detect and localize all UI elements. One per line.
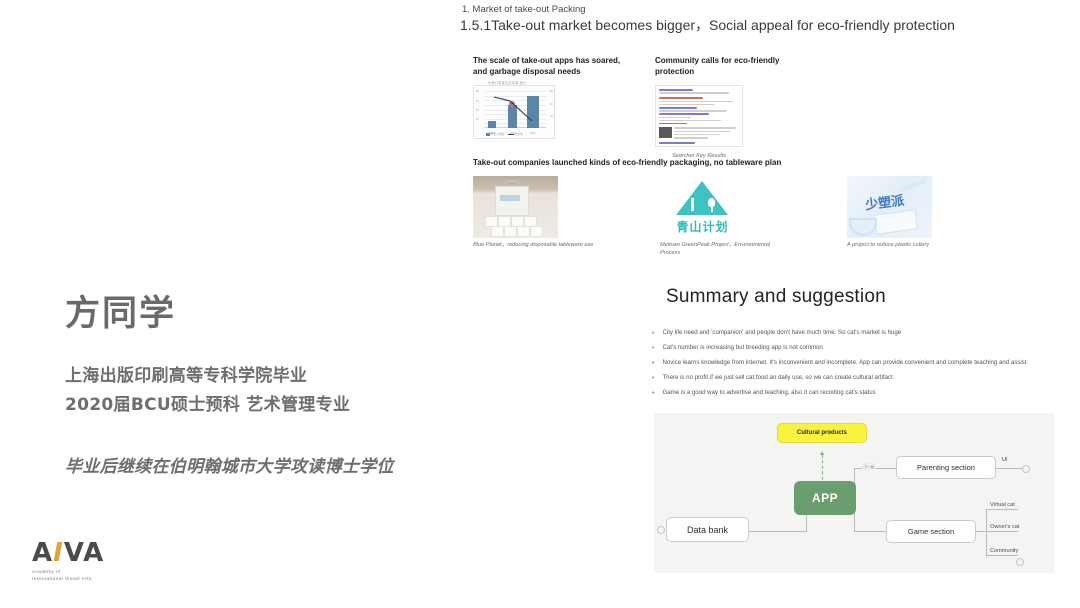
qingshan-logo: 青山计划 — [660, 176, 745, 238]
block-community-calls: Community calls for eco-friendly protect… — [655, 55, 815, 160]
mm-branch-tag: 下一级 — [862, 463, 876, 470]
list-item: •Novice learns knowledge from internet. … — [652, 358, 1052, 369]
mm-leaf-ui[interactable]: UI — [1002, 457, 1008, 463]
bullet-dot-icon: • — [652, 328, 654, 339]
mm-line-databank — [749, 531, 807, 532]
photo-caption-blue-planet: Blue Planet，reducing disposable tablewar… — [473, 241, 598, 249]
block-packaging: Take-out companies launched kinds of eco… — [473, 157, 853, 257]
mm-node-parenting-section[interactable]: Parenting section — [896, 456, 996, 479]
bio-block: 上海出版印刷高等专科学院毕业 2020届BCU硕士预科 艺术管理专业 — [65, 362, 465, 420]
mm-line-game-leaf1 — [986, 509, 1018, 510]
mm-line-game-fan — [986, 509, 987, 557]
mm-collapse-ring-community[interactable] — [1016, 558, 1024, 566]
photo-item-less-plastic: 少塑派 A project to reduce plastic cutlery — [847, 170, 972, 257]
mm-leaf-owners-cat[interactable]: Owner's cat — [990, 524, 1019, 530]
mm-collapse-ring-ui[interactable] — [1022, 465, 1030, 473]
slide-market-takeout: 1. Market of take-out Packing 1.5.1Take-… — [440, 0, 1080, 290]
list-item: •City life need and 'companion' and peop… — [652, 328, 1052, 339]
logo-letter-a: A — [32, 538, 53, 568]
bio-line-phd: 毕业后继续在伯明翰城市大学攻读博士学位 — [65, 452, 485, 477]
summary-title: Summary and suggestion — [666, 286, 886, 308]
list-item: •There is no profit if we just sell cat … — [652, 373, 1052, 384]
logo-wordmark: AIVA — [32, 540, 182, 566]
app-mindmap: Cultural products APP Data bank Parentin… — [654, 413, 1054, 573]
summary-bullet-list: •City life need and 'companion' and peop… — [652, 328, 1052, 403]
list-item: •Cat's number is increasing but breeding… — [652, 343, 1052, 354]
slide-summary-suggestion: Summary and suggestion •City life need a… — [632, 290, 1080, 608]
less-plastic-photo: 少塑派 — [847, 176, 932, 238]
speaker-intro-panel: 方同学 上海出版印刷高等专科学院毕业 2020届BCU硕士预科 艺术管理专业 毕… — [0, 0, 470, 608]
list-item: •Game is a good way to advertise and tea… — [652, 388, 1052, 399]
mm-node-cultural-products[interactable]: Cultural products — [777, 423, 867, 443]
bar-chart: 外卖订单量及垃圾量 统计 90 70 50 3 — [473, 85, 555, 139]
qingshan-cn-text: 青山计划 — [660, 218, 745, 235]
blue-planet-photo — [473, 176, 558, 238]
slide-heading: 1.5.1Take-out market becomes bigger，Soci… — [460, 16, 1060, 34]
logo-subtitle-line2: International Visual Arts — [32, 576, 182, 583]
mm-collapse-ring-databank[interactable] — [657, 526, 665, 534]
serp-thumbnail — [659, 127, 672, 138]
aiva-logo: AIVA Academy of International Visual Art… — [32, 540, 182, 582]
bullet-dot-icon: • — [652, 388, 654, 399]
block-packaging-title: Take-out companies launched kinds of eco… — [473, 157, 793, 168]
bullet-dot-icon: • — [652, 358, 654, 369]
photo-item-blue-planet: Blue Planet，reducing disposable tablewar… — [473, 170, 598, 257]
less-plastic-cn-text: 少塑派 — [864, 190, 905, 214]
mm-line-game-leaf3 — [986, 555, 1018, 556]
trend-line — [484, 91, 546, 128]
bullet-dot-icon: • — [652, 373, 654, 384]
mm-arrow-up-icon — [820, 451, 824, 455]
block-community-title: Community calls for eco-friendly protect… — [655, 55, 815, 77]
logo-slash-icon: I — [53, 538, 64, 568]
block-takeout-scale-title: The scale of take-out apps has soared, a… — [473, 55, 633, 77]
mm-leaf-virtual-cat[interactable]: Virtual cat — [990, 502, 1015, 508]
bullet-dot-icon: • — [652, 343, 654, 354]
chart-superscript: 外卖订单量及垃圾量 统计 — [488, 80, 526, 85]
mm-leaf-community[interactable]: Community — [990, 548, 1018, 554]
page-title: 方同学 — [65, 285, 176, 336]
search-results-screenshot — [655, 85, 743, 147]
photo-item-qingshan: 青山计划 Meituan GreenPeak Project，Environme… — [660, 170, 785, 257]
photo-caption-less-plastic: A project to reduce plastic cutlery — [847, 241, 972, 249]
mm-line-parenting-ui — [996, 468, 1024, 469]
mm-node-app[interactable]: APP — [794, 481, 856, 515]
section-label: 1. Market of take-out Packing — [462, 4, 586, 15]
slide-canvas: 方同学 上海出版印刷高等专科学院毕业 2020届BCU硕士预科 艺术管理专业 毕… — [0, 0, 1080, 608]
logo-letters-va: VA — [64, 538, 104, 568]
block-takeout-scale: The scale of take-out apps has soared, a… — [473, 55, 633, 139]
mm-node-game-section[interactable]: Game section — [886, 520, 976, 543]
bio-line-education: 上海出版印刷高等专科学院毕业 — [65, 362, 465, 391]
bio-line-program: 2020届BCU硕士预科 艺术管理专业 — [65, 391, 465, 420]
chart-plot-area: 90 70 50 30 100 60 20 — [484, 91, 546, 128]
mm-node-data-bank[interactable]: Data bank — [666, 517, 749, 542]
mm-line-game-leaf2 — [986, 531, 1018, 532]
chart-legend: 外卖订单量增长率 — [486, 132, 523, 136]
slides-column: 1. Market of take-out Packing 1.5.1Take-… — [440, 0, 1080, 608]
photo-caption-qingshan: Meituan GreenPeak Project，Environmental … — [660, 241, 785, 257]
